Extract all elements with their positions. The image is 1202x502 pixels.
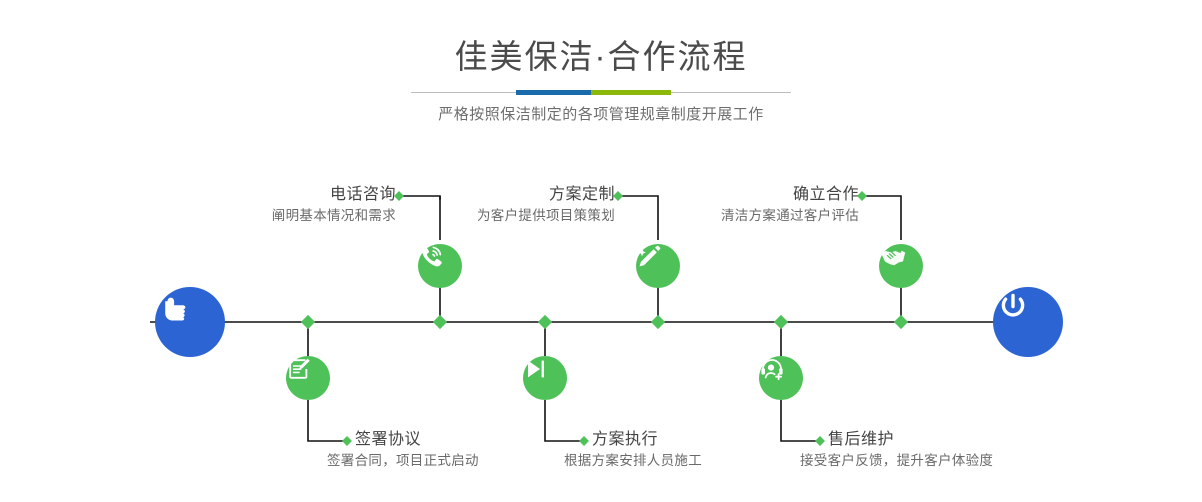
step-title-plan-execution: 方案执行 [592,429,702,451]
timeline-diamond-4 [651,315,665,329]
label-connector-sign-agreement [308,400,347,441]
pointing-hand-icon [155,287,195,327]
step-desc-plan-execution: 根据方案安排人员施工 [564,451,702,471]
end-node[interactable] [993,287,1063,357]
step-title-after-sales: 售后维护 [828,429,993,451]
timeline-diamond-5 [774,315,788,329]
play-execute-icon [523,356,549,382]
timeline-diamond-3 [538,315,552,329]
label-connector-after-sales [781,400,820,441]
label-connector-plan-execution [545,400,584,441]
connector-lines [0,0,1202,502]
step-title-confirm-cooperation: 确立合作 [480,184,859,206]
step-label-plan-execution: 方案执行 根据方案安排人员施工 [592,429,702,471]
label-connector-confirm-cooperation [862,196,901,240]
step-icon-after-sales[interactable] [759,356,803,400]
flow-chart-page: 佳美保洁·合作流程 严格按照保洁制定的各项管理规章制度开展工作 [0,0,1202,502]
power-icon [993,287,1033,327]
document-edit-icon [286,356,312,382]
timeline-diamond-6 [894,315,908,329]
process-flow-diagram: 电话咨询 阐明基本情况和需求 签署协议 签署合同，项目正式启动 方案定制 [0,0,1202,502]
step-icon-confirm-cooperation[interactable] [879,244,923,288]
pen-design-icon [636,244,662,270]
step-icon-sign-agreement[interactable] [286,356,330,400]
step-icon-phone-consult[interactable] [418,244,462,288]
timeline-diamond-1 [301,315,315,329]
start-node[interactable] [155,287,225,357]
step-icon-plan-customization[interactable] [636,244,680,288]
handshake-icon [879,244,907,272]
label-diamond-after-sales [815,436,825,446]
phone-call-icon [418,244,444,270]
step-label-after-sales: 售后维护 接受客户反馈，提升客户体验度 [828,429,993,471]
step-label-confirm-cooperation: 确立合作 清洁方案通过客户评估 [480,184,859,226]
label-diamond-plan-execution [579,436,589,446]
step-icon-plan-execution[interactable] [523,356,567,400]
customer-support-icon [759,356,785,382]
step-desc-sign-agreement: 签署合同，项目正式启动 [327,451,479,471]
timeline-diamond-2 [433,315,447,329]
step-desc-confirm-cooperation: 清洁方案通过客户评估 [480,206,859,226]
step-label-sign-agreement: 签署协议 签署合同，项目正式启动 [355,429,479,471]
label-diamond-sign-agreement [342,436,352,446]
step-desc-after-sales: 接受客户反馈，提升客户体验度 [800,451,993,471]
step-title-sign-agreement: 签署协议 [355,429,479,451]
